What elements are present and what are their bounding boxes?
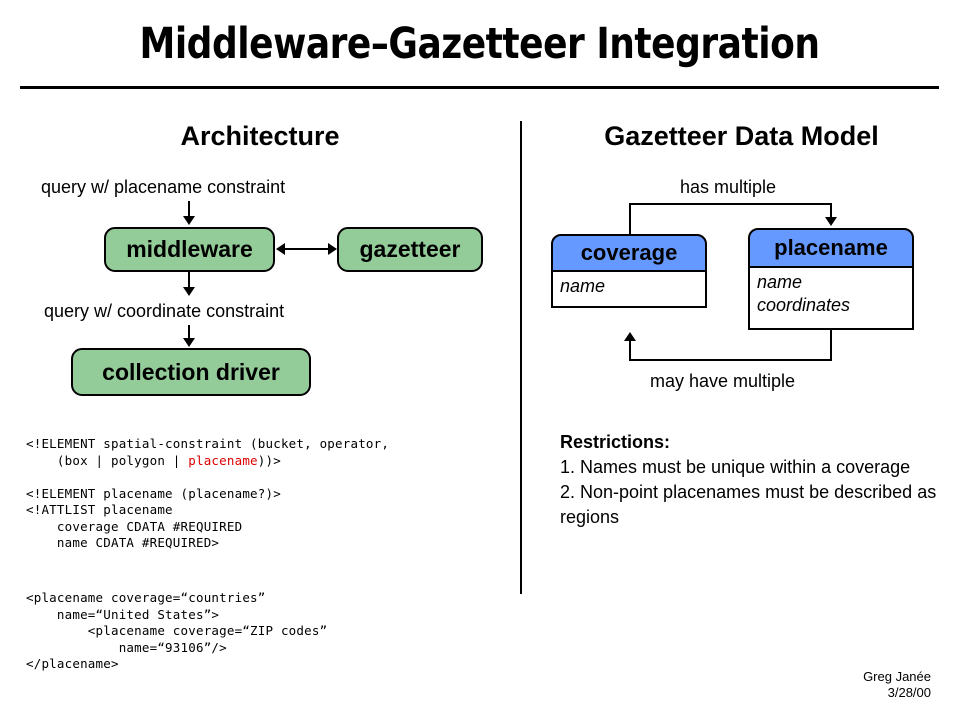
node-gazetteer-label: gazetteer (360, 236, 461, 263)
label-may-have-multiple: may have multiple (650, 370, 795, 392)
arrow-head-query-to-middleware (183, 216, 195, 225)
node-middleware-label: middleware (126, 236, 253, 263)
node-gazetteer[interactable]: gazetteer (337, 227, 483, 272)
entity-coverage-attributes: name (551, 272, 707, 308)
footer-signature: Greg Janée 3/28/00 (863, 669, 931, 701)
code-dtd-line-2-post: ))> (258, 453, 281, 468)
restrictions-item-1: 1. Names must be unique within a coverag… (560, 455, 950, 480)
arrow-head-has-multiple (825, 217, 837, 226)
arrow-head-may-have-multiple (624, 332, 636, 341)
arrow-head-middleware-to-coordinate-query (183, 287, 195, 296)
code-block-xml-example: <placename coverage=“countries” name=“Un… (26, 590, 327, 673)
arrow-segment-coverage-top-riser (629, 203, 631, 236)
entity-placename[interactable]: placename name coordinates (748, 228, 914, 330)
code-dtd-line-6: coverage CDATA #REQUIRED (26, 519, 242, 534)
entity-placename-attributes: name coordinates (748, 268, 914, 330)
column-divider (520, 121, 522, 594)
label-coordinate-query: query w/ coordinate constraint (44, 300, 284, 322)
code-xml-line-5: </placename> (26, 656, 119, 671)
arrow-segment-has-multiple-top (629, 203, 832, 205)
code-dtd-line-2-pre: (box | polygon | (26, 453, 188, 468)
arrow-segment-placename-bottom-descender (830, 330, 832, 361)
entity-placename-name: placename (774, 235, 888, 261)
section-heading-architecture: Architecture (0, 120, 520, 152)
arrow-head-to-gazetteer (328, 243, 337, 255)
code-block-dtd: <!ELEMENT spatial-constraint (bucket, op… (26, 436, 389, 552)
title-divider-rule (20, 86, 939, 89)
entity-placename-attribute-name: name (757, 271, 912, 294)
label-placename-query: query w/ placename constraint (41, 176, 285, 198)
label-has-multiple: has multiple (680, 176, 776, 198)
page-title: Middleware–Gazetteer Integration (34, 18, 926, 70)
code-dtd-line-5: <!ATTLIST placename (26, 502, 173, 517)
arrow-segment-may-have-multiple-riser (629, 341, 631, 359)
code-dtd-line-2-highlight: placename (188, 453, 258, 468)
arrow-head-to-middleware (276, 243, 285, 255)
entity-coverage[interactable]: coverage name (551, 234, 707, 308)
entity-placename-attribute-coordinates: coordinates (757, 294, 912, 317)
arrow-head-query-to-collection-driver (183, 338, 195, 347)
code-xml-line-1: <placename coverage=“countries” (26, 590, 266, 605)
restrictions-title: Restrictions: (560, 430, 950, 455)
code-dtd-line-7: name CDATA #REQUIRED> (26, 535, 219, 550)
node-collection-driver-label: collection driver (102, 359, 280, 386)
slide-canvas: Middleware–Gazetteer Integration Archite… (0, 0, 959, 719)
code-xml-line-2: name=“United States”> (26, 607, 219, 622)
node-collection-driver[interactable]: collection driver (71, 348, 311, 396)
code-xml-line-4: name=“93106”/> (26, 640, 227, 655)
restrictions-item-2: 2. Non-point placenames must be describe… (560, 480, 950, 530)
entity-coverage-name: coverage (581, 240, 678, 266)
arrow-segment-may-have-multiple-bottom (629, 359, 832, 361)
footer-author: Greg Janée (863, 669, 931, 685)
code-dtd-line-4: <!ELEMENT placename (placename?)> (26, 486, 281, 501)
arrow-shaft-middleware-gazetteer (284, 248, 329, 250)
footer-date: 3/28/00 (863, 685, 931, 701)
code-dtd-line-1: <!ELEMENT spatial-constraint (bucket, op… (26, 436, 389, 451)
entity-placename-header: placename (748, 228, 914, 268)
restrictions-block: Restrictions: 1. Names must be unique wi… (560, 430, 950, 530)
node-middleware[interactable]: middleware (104, 227, 275, 272)
entity-coverage-header: coverage (551, 234, 707, 272)
code-xml-line-3: <placename coverage=“ZIP codes” (26, 623, 327, 638)
section-heading-gazetteer-data-model: Gazetteer Data Model (524, 120, 959, 152)
entity-coverage-attribute-name: name (560, 275, 705, 298)
